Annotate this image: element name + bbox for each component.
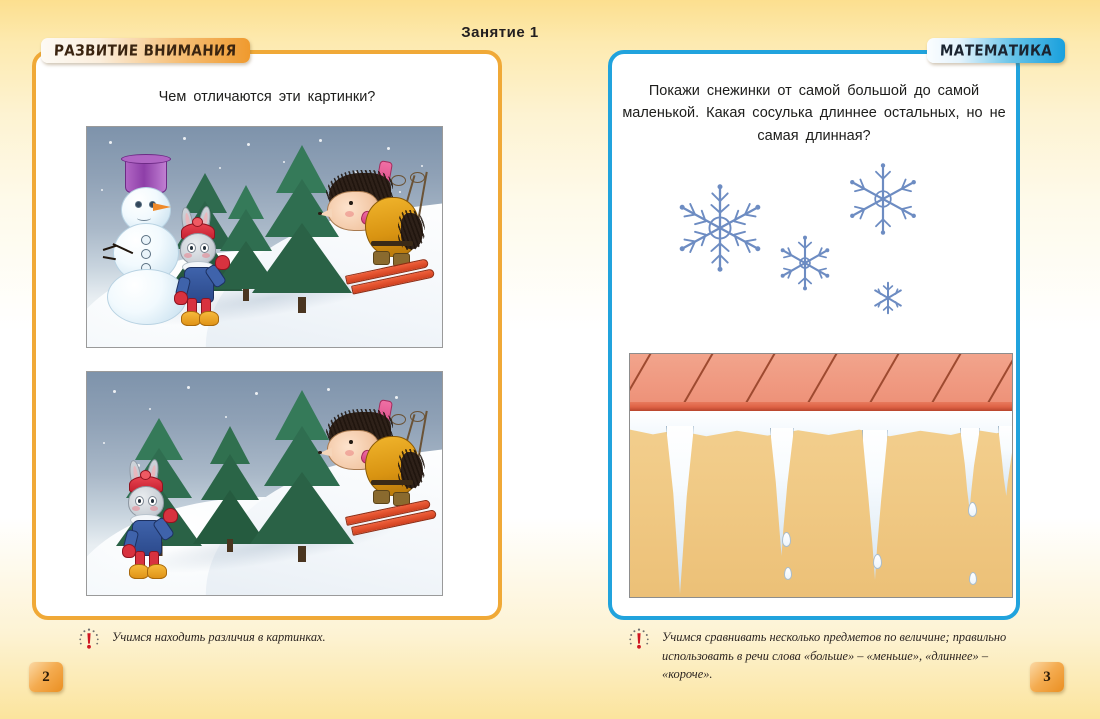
workbook-spread: Занятие 1 РАЗВИТИЕ ВНИМАНИЯ Чем отличают… (0, 0, 1100, 719)
bunny-mitten (215, 255, 230, 270)
left-prompt: Чем отличаются эти картинки? (32, 86, 502, 108)
snowflakes-group (628, 160, 1000, 355)
page-number-left: 2 (29, 662, 63, 692)
water-drop (968, 502, 977, 517)
bunny-character (119, 460, 181, 580)
bunny-boot (199, 311, 219, 326)
tab-math[interactable]: МАТЕМАТИКА (927, 38, 1065, 63)
right-prompt: Покажи снежинки от самой большой до само… (608, 80, 1020, 147)
bunny-boot (129, 564, 149, 579)
hedgehog-skier (323, 157, 443, 299)
illustration-icicles[interactable] (629, 353, 1013, 598)
bunny-character (171, 207, 233, 327)
bunny-boot (147, 564, 167, 579)
snowman-carrot-nose (153, 203, 171, 211)
right-hint-text: Учимся сравнивать несколько предметов по… (662, 628, 1020, 684)
roof (630, 354, 1012, 403)
snowflake-smallest[interactable] (868, 278, 908, 318)
tab-math-label: МАТЕМАТИКА (939, 42, 1052, 60)
tab-attention-label: РАЗВИТИЕ ВНИМАНИЯ (54, 42, 237, 60)
water-drop (782, 532, 791, 547)
bunny-boot (181, 311, 201, 326)
snowflake-medium[interactable] (774, 232, 836, 294)
snowflake-large[interactable] (844, 160, 922, 238)
right-hint-footer: Учимся сравнивать несколько предметов по… (628, 628, 1020, 684)
illustration-winter-scene-1[interactable] (86, 126, 443, 348)
exclamation-bulb-icon (628, 628, 650, 652)
left-hint-footer: Учимся находить различия в картинках. (78, 628, 478, 652)
water-drop (873, 554, 882, 569)
exclamation-bulb-icon (78, 628, 100, 652)
water-drop (784, 567, 792, 580)
illustration-winter-scene-2[interactable] (86, 371, 443, 596)
left-hint-text: Учимся находить различия в картинках. (112, 628, 326, 647)
bunny-mitten (163, 508, 178, 523)
hedgehog-skier (323, 396, 443, 538)
tab-attention[interactable]: РАЗВИТИЕ ВНИМАНИЯ (41, 38, 250, 63)
snowflake-largest[interactable] (672, 180, 768, 276)
water-drop (969, 572, 977, 585)
page-number-right: 3 (1030, 662, 1064, 692)
